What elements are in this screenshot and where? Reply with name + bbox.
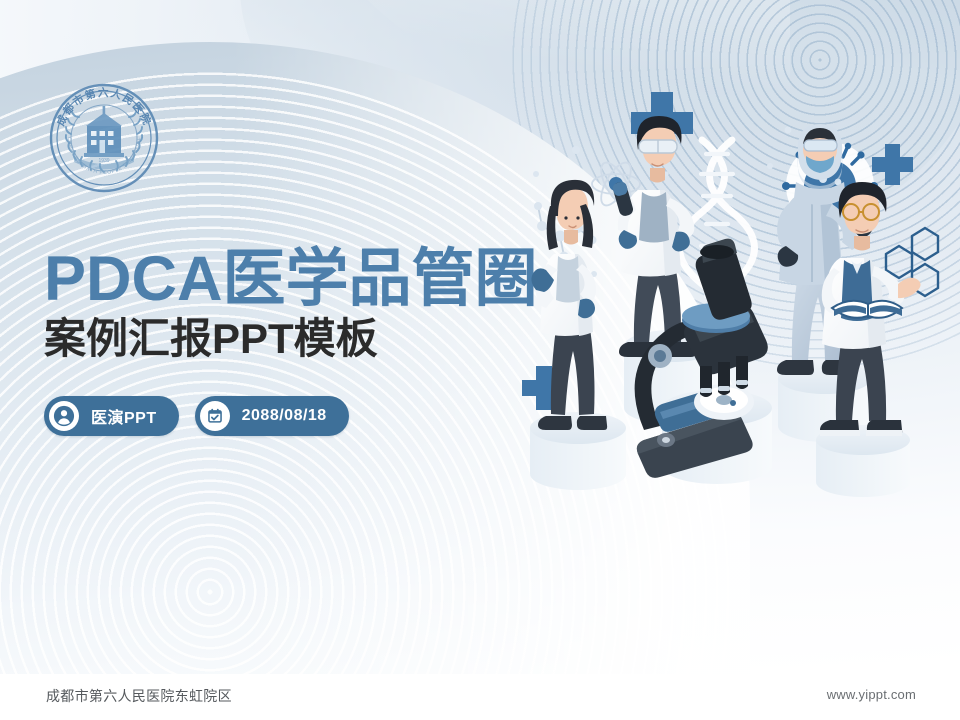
calendar-check-icon xyxy=(200,401,230,431)
page-subtitle: 案例汇报PPT模板 xyxy=(44,318,378,360)
presentation-slide: 1939 成都市第六人民医院 CHENGDU SIXTH PEOPLE'S HO… xyxy=(0,0,960,720)
goggles xyxy=(639,140,677,153)
date-badge-label: 2088/08/18 xyxy=(242,407,327,425)
open-book xyxy=(832,301,902,318)
user-icon xyxy=(49,401,79,431)
hospital-logo: 1939 成都市第六人民医院 CHENGDU SIXTH PEOPLE'S HO… xyxy=(48,82,160,194)
slide-footer: 成都市第六人民医院东虹院区 www.yippt.com xyxy=(0,674,960,720)
author-badge-label: 医演PPT xyxy=(91,404,157,428)
page-title: PDCA医学品管圈 xyxy=(44,248,538,311)
svg-text:1939: 1939 xyxy=(98,158,109,164)
footer-website[interactable]: www.yippt.com xyxy=(827,687,916,702)
medical-research-team-illustration xyxy=(520,78,960,498)
date-badge[interactable]: 2088/08/18 xyxy=(195,396,349,436)
footer-hospital-name: 成都市第六人民医院东虹院区 xyxy=(46,686,232,706)
author-badge[interactable]: 医演PPT xyxy=(44,396,179,436)
meta-badges: 医演PPT 2088/08/18 xyxy=(44,396,349,436)
